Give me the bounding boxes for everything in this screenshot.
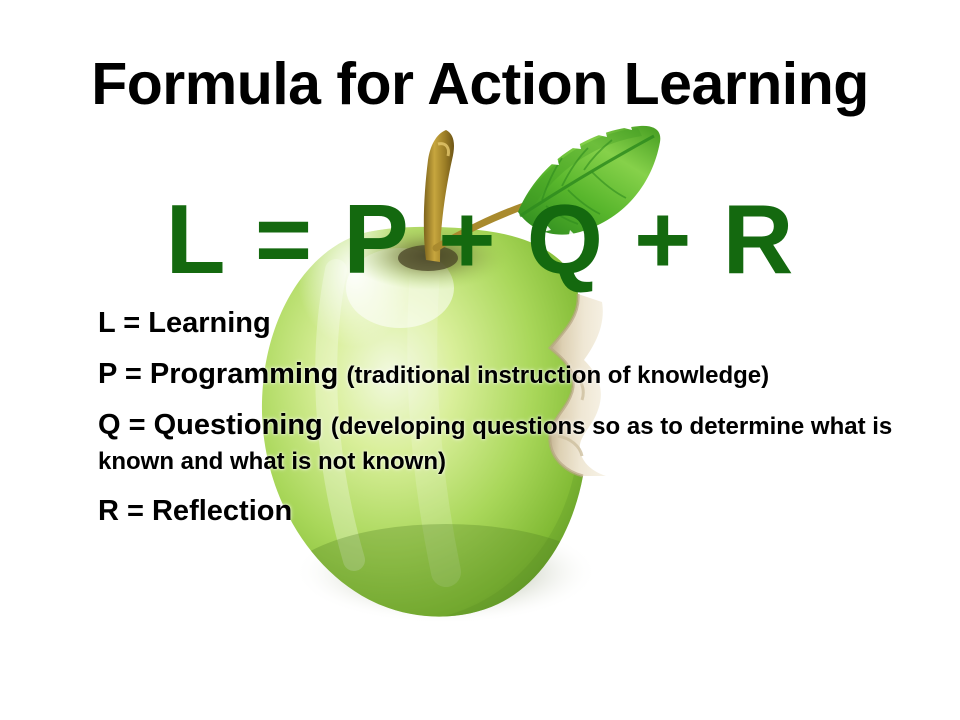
slide-canvas: Formula for Action Learning L = P + Q + … (0, 0, 960, 720)
page-title: Formula for Action Learning (0, 54, 960, 116)
formula-term-p: P (343, 184, 408, 294)
definition-term-q: Q = Questioning (98, 409, 323, 441)
formula-term-r: R (723, 184, 795, 294)
definition-item-r: R = Reflection (98, 494, 898, 528)
formula-plus-sign-1: + (438, 184, 496, 294)
formula-term-q: Q (527, 184, 604, 294)
formula-plus-sign-2: + (634, 184, 692, 294)
definition-term-l: L = Learning (98, 307, 271, 339)
definition-term-p: P = Programming (98, 358, 338, 390)
definition-list: L = Learning P = Programming (traditiona… (98, 306, 898, 545)
definition-item-p: P = Programming (traditional instruction… (98, 357, 898, 391)
definition-item-l: L = Learning (98, 306, 898, 340)
formula-term-l: L (166, 184, 225, 294)
definition-note-p: (traditional instruction of knowledge) (346, 362, 769, 389)
definition-item-q: Q = Questioning (developing questions so… (98, 408, 898, 476)
formula-equals-sign: = (255, 184, 313, 294)
definition-term-r: R = Reflection (98, 495, 292, 527)
formula-expression: L = P + Q + R (0, 190, 960, 288)
